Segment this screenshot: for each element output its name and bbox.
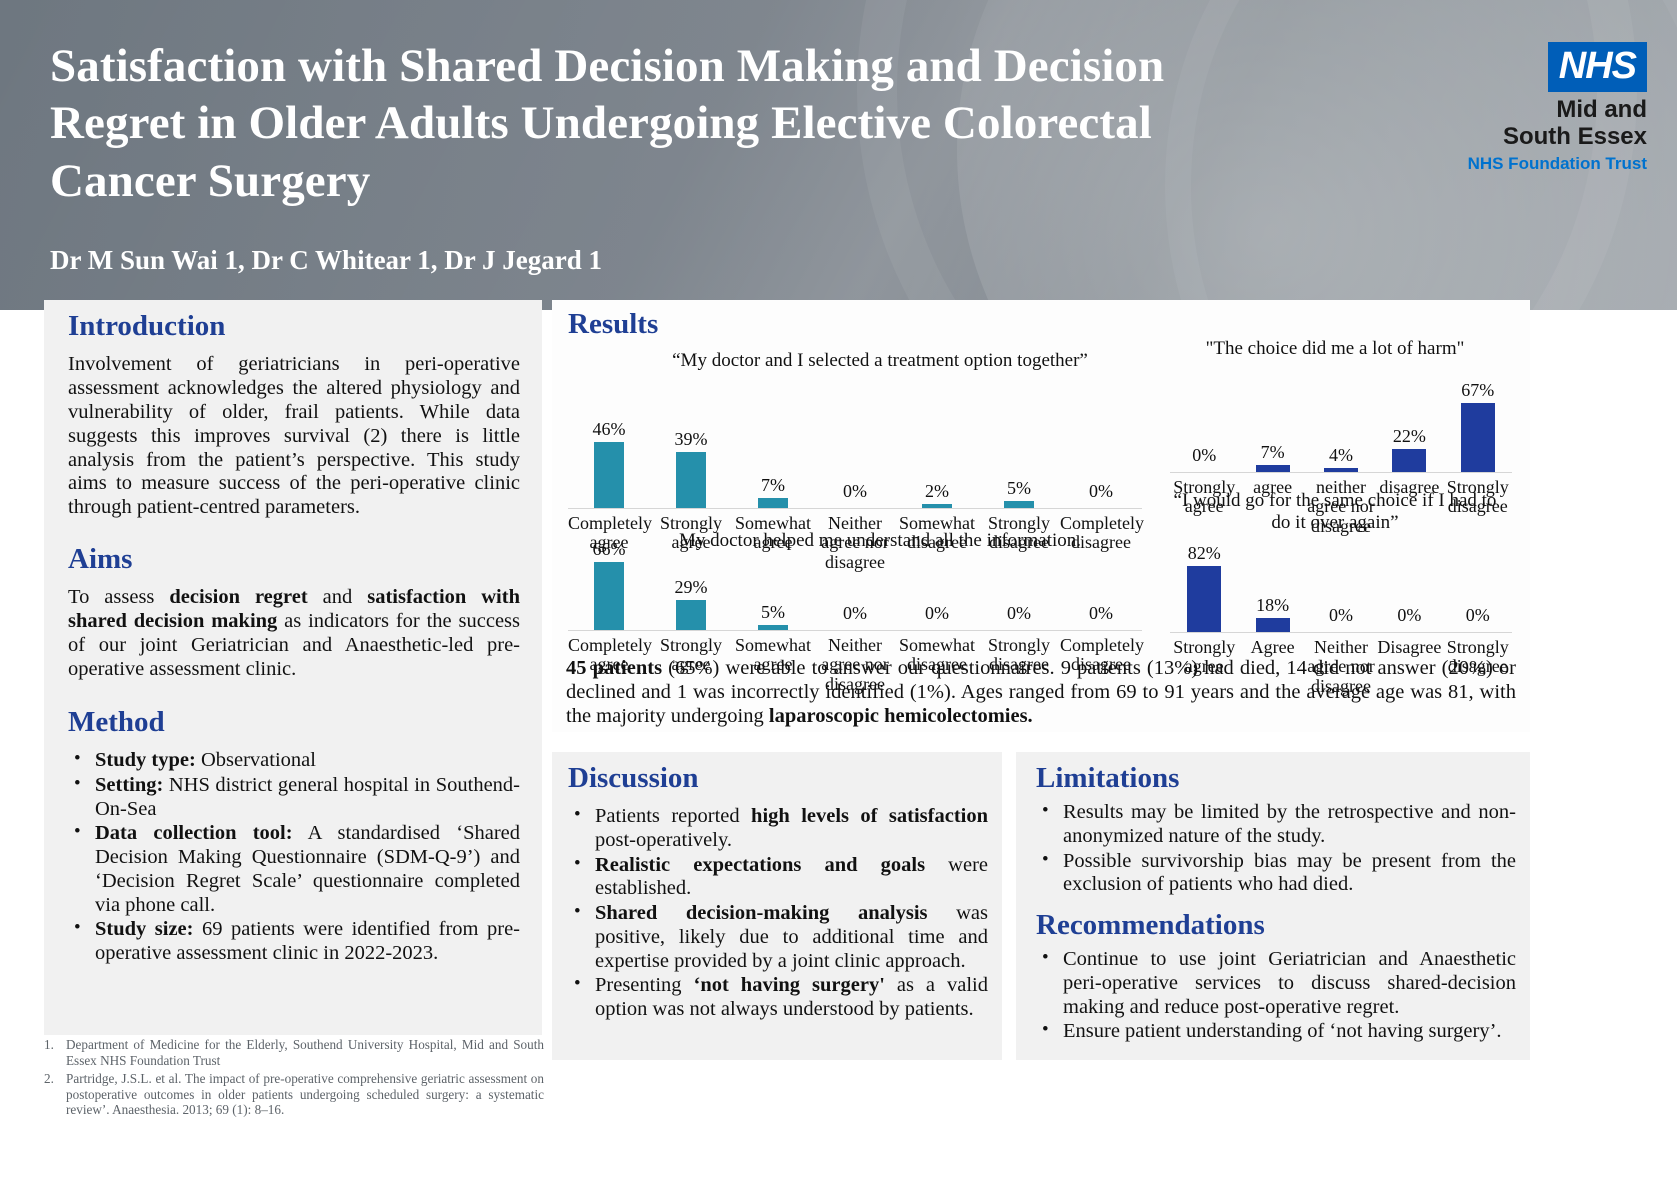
references-section: 1.Department of Medicine for the Elderly…	[44, 1037, 544, 1121]
chart-bar-value-label: 66%	[568, 539, 650, 560]
chart-baseline	[568, 630, 1142, 631]
chart-bar	[1392, 449, 1426, 472]
chart-bar	[1256, 465, 1290, 472]
chart-bar	[1256, 618, 1290, 632]
chart-bar-value-label: 4%	[1307, 445, 1375, 466]
chart-bar-value-label: 7%	[1238, 442, 1306, 463]
chart-title: My doctor helped me understand all the i…	[620, 530, 1140, 552]
method-list-item: Study type: Observational	[68, 749, 520, 773]
aims-text: To assess decision regret and satisfacti…	[68, 586, 520, 682]
aims-heading: Aims	[68, 543, 520, 576]
discussion-heading: Discussion	[568, 762, 988, 795]
chart-bar	[1324, 468, 1358, 472]
discussion-list-item: Presenting ‘not having surgery' as a val…	[568, 974, 988, 1022]
chart-bar-value-label: 0%	[1170, 445, 1238, 466]
chart-bar-value-label: 46%	[568, 419, 650, 440]
poster-root: Satisfaction with Shared Decision Making…	[0, 0, 1677, 1184]
method-list-item: Study size: 69 patients were identified …	[68, 918, 520, 966]
chart-bar-value-label: 18%	[1238, 595, 1306, 616]
chart-bar-value-label: 5%	[732, 602, 814, 623]
chart-bar-value-label: 0%	[1444, 605, 1512, 626]
method-heading: Method	[68, 706, 520, 739]
chart-baseline	[1170, 472, 1512, 473]
method-section: Method Study type: ObservationalSetting:…	[68, 706, 520, 967]
reference-number: 1.	[44, 1037, 54, 1053]
introduction-section: Introduction Involvement of geriatrician…	[68, 310, 520, 520]
chart-bar-value-label: 22%	[1375, 426, 1443, 447]
chart-bar-value-label: 0%	[978, 603, 1060, 624]
reference-text: Partridge, J.S.L. et al. The impact of p…	[66, 1071, 544, 1117]
recommendations-heading: Recommendations	[1036, 909, 1516, 942]
chart-bar-value-label: 0%	[814, 481, 896, 502]
recommendation-list-item: Continue to use joint Geriatrician and A…	[1036, 948, 1516, 1019]
references-list: 1.Department of Medicine for the Elderly…	[44, 1037, 544, 1118]
chart-bar-value-label: 0%	[1060, 481, 1142, 502]
reference-text: Department of Medicine for the Elderly, …	[66, 1037, 544, 1068]
discussion-section: Discussion Patients reported high levels…	[568, 762, 988, 1023]
nhs-trust-name: Mid andSouth Essex	[1457, 97, 1647, 151]
chart-bar-value-label: 0%	[896, 603, 978, 624]
reference-item: 2.Partridge, J.S.L. et al. The impact of…	[44, 1071, 544, 1118]
poster-title: Satisfaction with Shared Decision Making…	[50, 38, 1290, 210]
chart-bar	[676, 600, 706, 630]
results-summary-text: 45 patients (65%) were able to answer ou…	[566, 656, 1516, 728]
chart-bar	[594, 442, 624, 508]
chart-bar-value-label: 5%	[978, 478, 1060, 499]
discussion-panel: Discussion Patients reported high levels…	[552, 752, 1002, 1060]
discussion-list: Patients reported high levels of satisfa…	[568, 805, 988, 1022]
nhs-trust-type: NHS Foundation Trust	[1457, 153, 1647, 175]
reference-number: 2.	[44, 1071, 54, 1087]
limitations-list-item: Possible survivorship bias may be presen…	[1036, 850, 1516, 898]
chart-category-label: Agree	[1238, 638, 1306, 657]
poster-authors: Dr M Sun Wai 1, Dr C Whitear 1, Dr J Jeg…	[50, 245, 602, 276]
discussion-list-item: Patients reported high levels of satisfa…	[568, 805, 988, 853]
chart-bar-value-label: 0%	[1307, 605, 1375, 626]
chart-bar	[1187, 566, 1221, 632]
chart-bar-value-label: 2%	[896, 481, 978, 502]
discussion-list-item: Shared decision-making analysis was posi…	[568, 902, 988, 973]
chart-title: “I would go for the same choice if I had…	[1170, 490, 1500, 534]
aims-section: Aims To assess decision regret and satis…	[68, 543, 520, 682]
method-list: Study type: ObservationalSetting: NHS di…	[68, 749, 520, 966]
chart-baseline	[1170, 632, 1512, 633]
left-column-panel: Introduction Involvement of geriatrician…	[44, 300, 542, 1035]
limitations-section: Limitations Results may be limited by th…	[1036, 762, 1516, 1045]
chart-bar-value-label: 0%	[1060, 603, 1142, 624]
chart-bar-value-label: 0%	[1375, 605, 1443, 626]
method-list-item: Data collection tool: A standardised ‘Sh…	[68, 822, 520, 917]
chart-bar	[1461, 403, 1495, 472]
nhs-wordmark: NHS	[1548, 42, 1647, 92]
results-heading: Results	[568, 308, 658, 341]
limitations-list: Results may be limited by the retrospect…	[1036, 801, 1516, 897]
reference-item: 1.Department of Medicine for the Elderly…	[44, 1037, 544, 1068]
introduction-heading: Introduction	[68, 310, 520, 343]
method-list-item: Setting: NHS district general hospital i…	[68, 774, 520, 822]
chart-bar-value-label: 7%	[732, 475, 814, 496]
chart-title: "The choice did me a lot of harm"	[1170, 338, 1500, 360]
chart-bar-value-label: 29%	[650, 577, 732, 598]
chart-title: “My doctor and I selected a treatment op…	[620, 350, 1140, 372]
chart-regret-same-choice-again: “I would go for the same choice if I had…	[1160, 490, 1520, 670]
results-panel: Results “My doctor and I selected a trea…	[552, 300, 1530, 732]
limitations-heading: Limitations	[1036, 762, 1516, 795]
chart-bar-value-label: 82%	[1170, 543, 1238, 564]
poster-header: Satisfaction with Shared Decision Making…	[0, 0, 1677, 310]
limitations-panel: Limitations Results may be limited by th…	[1016, 752, 1530, 1060]
chart-bar	[594, 562, 624, 630]
limitations-list-item: Results may be limited by the retrospect…	[1036, 801, 1516, 849]
chart-category-label: Disagree	[1375, 638, 1443, 657]
recommendation-list-item: Ensure patient understanding of ‘not hav…	[1036, 1020, 1516, 1044]
introduction-text: Involvement of geriatricians in peri-ope…	[68, 353, 520, 520]
recommendations-list: Continue to use joint Geriatrician and A…	[1036, 948, 1516, 1044]
discussion-list-item: Realistic expectations and goals were es…	[568, 854, 988, 902]
nhs-logo: NHS Mid andSouth Essex NHS Foundation Tr…	[1457, 42, 1647, 175]
chart-bar	[758, 625, 788, 630]
chart-bar-value-label: 0%	[814, 603, 896, 624]
chart-bar-value-label: 39%	[650, 429, 732, 450]
chart-bar-value-label: 67%	[1444, 380, 1512, 401]
